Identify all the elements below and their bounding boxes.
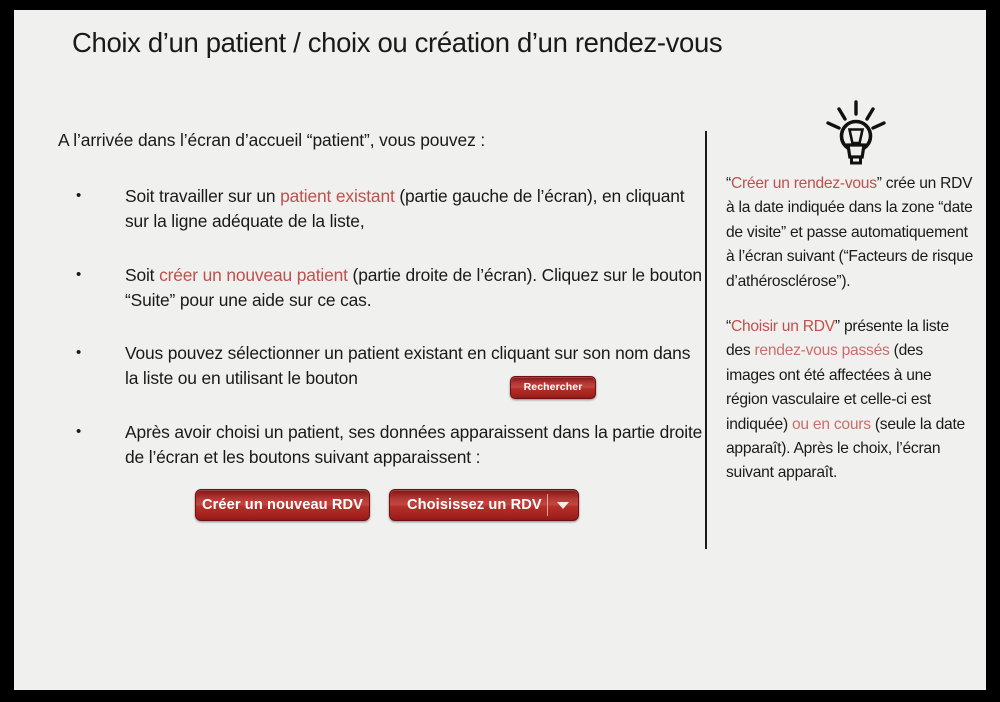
creer-nouveau-rdv-button[interactable]: Créer un nouveau RDV [195, 489, 370, 521]
lightbulb-icon [825, 98, 887, 170]
text-run: Créer un rendez-vous [731, 175, 877, 192]
text-run: rendez-vous passés [754, 342, 889, 359]
slide-canvas: Choix d’un patient / choix ou création d… [14, 10, 986, 690]
column-divider [705, 131, 707, 549]
list-item-text: Soit travailler sur un patient existant … [125, 184, 708, 233]
bullet-glyph: • [76, 184, 81, 209]
list-item: • Après avoir choisi un patient, ses don… [58, 420, 708, 469]
page-title: Choix d’un patient / choix ou création d… [72, 27, 932, 59]
choisir-rdv-dropdown-button[interactable]: Choisissez un RDV [389, 489, 579, 521]
bullet-glyph: • [76, 341, 81, 366]
list-item-text: Vous pouvez sélectionner un patient exis… [125, 341, 708, 390]
text-run: Vous pouvez sélectionner un patient exis… [125, 343, 690, 388]
text-run: ” crée un RDV à la date indiquée dans la… [726, 175, 973, 290]
list-item-text: Après avoir choisi un patient, ses donné… [125, 420, 708, 469]
left-content-column: A l’arrivée dans l’écran d’accueil “pati… [58, 128, 708, 529]
chevron-down-icon[interactable] [557, 502, 569, 509]
bullet-glyph: • [76, 263, 81, 288]
text-run: Soit [125, 265, 159, 285]
intro-text: A l’arrivée dans l’écran d’accueil “pati… [58, 128, 708, 152]
text-run: créer un nouveau patient [159, 265, 348, 285]
list-item: • Soit travailler sur un patient existan… [58, 184, 708, 233]
choisir-rdv-label: Choisissez un RDV [407, 497, 542, 513]
list-item: • Soit créer un nouveau patient (partie … [58, 263, 708, 312]
text-run: Choisir un RDV [731, 318, 835, 335]
tip-paragraph-creer: “Créer un rendez-vous” crée un RDV à la … [726, 172, 974, 294]
bullet-glyph: • [76, 420, 81, 445]
text-run: ou en cours [792, 416, 871, 433]
right-content-column: “Créer un rendez-vous” crée un RDV à la … [726, 172, 974, 486]
list-item-text: Soit créer un nouveau patient (partie dr… [125, 263, 708, 312]
rdv-button-row: Créer un nouveau RDV Choisissez un RDV [195, 489, 708, 529]
list-item: • Vous pouvez sélectionner un patient ex… [58, 341, 708, 390]
text-run: Après avoir choisi un patient, ses donné… [125, 422, 702, 467]
rechercher-button[interactable]: Rechercher [510, 376, 596, 399]
tip-paragraph-choisir: “Choisir un RDV” présente la liste des r… [726, 315, 974, 486]
text-run: patient existant [280, 186, 395, 206]
text-run: Soit travailler sur un [125, 186, 280, 206]
button-divider [547, 494, 548, 516]
